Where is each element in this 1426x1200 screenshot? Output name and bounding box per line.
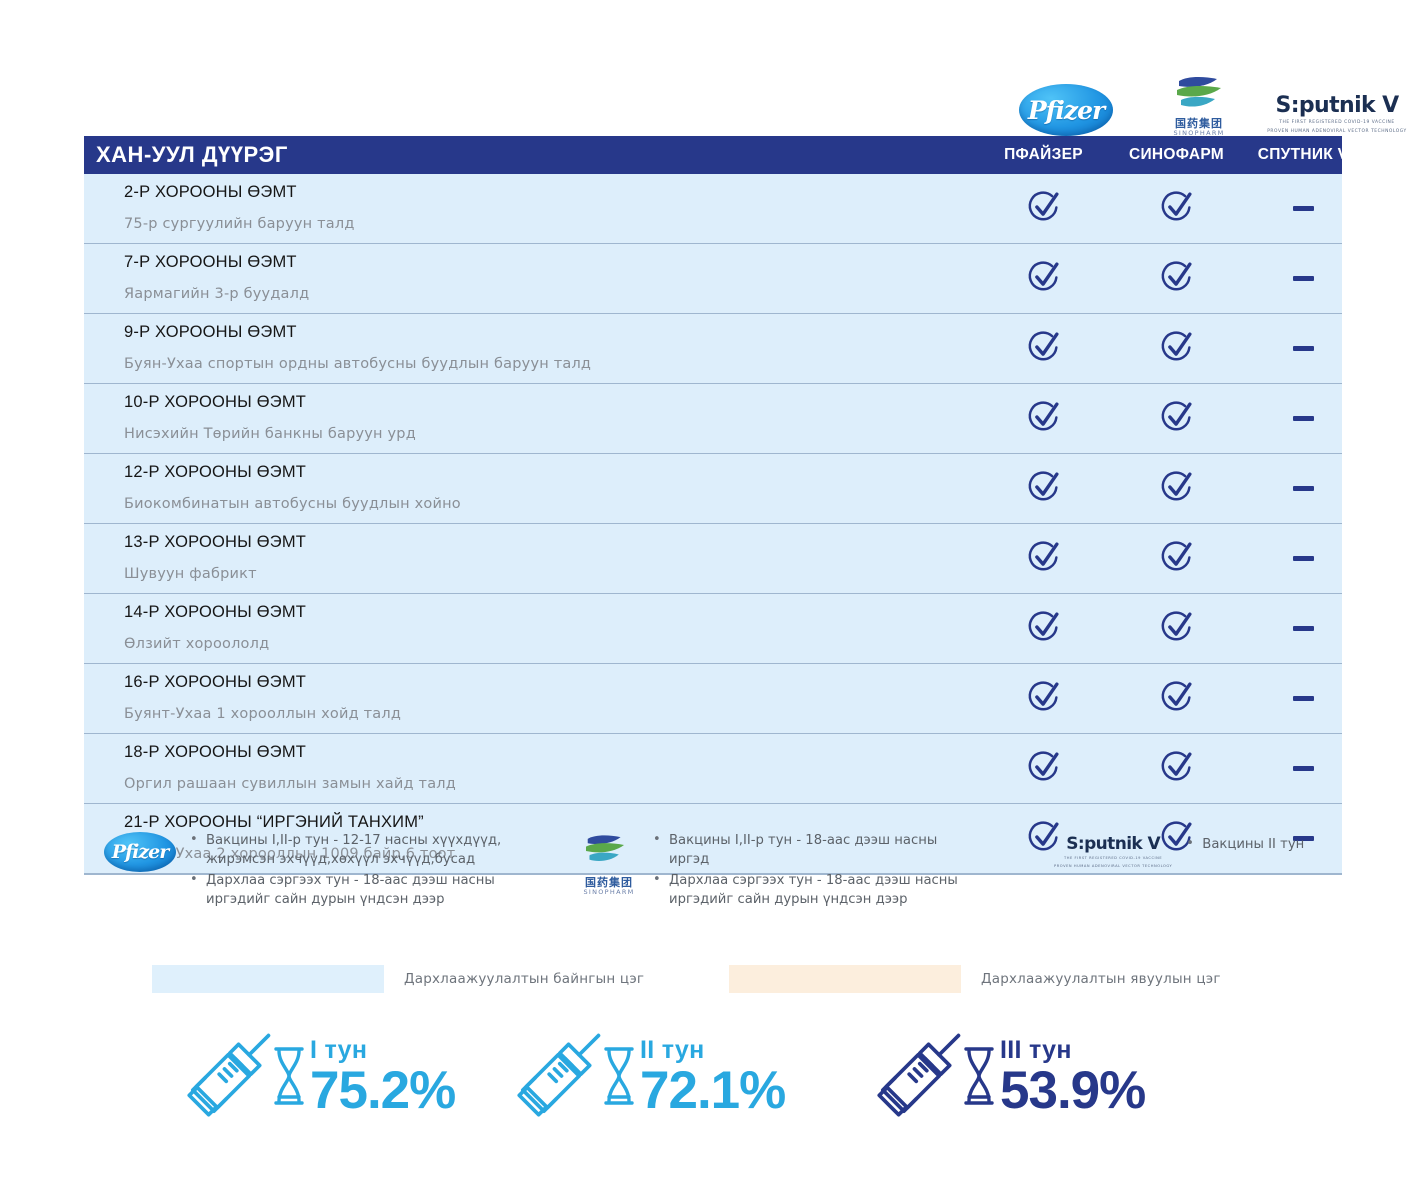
check-icon: [1158, 608, 1196, 650]
cell-sputnik: [1243, 594, 1363, 663]
note-item: Дархлаа сэргээх тун - 18-аас дээш насны …: [653, 872, 969, 909]
table-row: 9-Р ХОРООНЫ ӨЭМТБуян-Ухаа спортын ордны …: [84, 314, 1342, 384]
syringe-icon: [184, 1032, 272, 1124]
sinopharm-wave-icon: [579, 832, 639, 876]
legend-item: Дархлаажуулалтын байнгын цэг: [152, 965, 644, 993]
pfizer-wordmark: Pfizer: [112, 841, 169, 863]
check-icon: [1025, 398, 1063, 440]
table-row: 16-Р ХОРООНЫ ӨЭМТБуянт-Ухаа 1 хорооллын …: [84, 664, 1342, 734]
check-icon: [1025, 258, 1063, 300]
column-header-sputnik: СПУТНИК V: [1243, 146, 1363, 164]
pfizer-wordmark: Pfizer: [1028, 96, 1104, 125]
site-names: 7-Р ХОРООНЫ ӨЭМТЯармагийн 3-р буудалд: [84, 244, 977, 313]
site-address: Буян-Ухаа спортын ордны автобусны буудлы…: [124, 354, 977, 375]
note-item: Вакцины II тун: [1186, 836, 1304, 855]
dose-label: I тун: [310, 1038, 455, 1063]
dose-percent: 75.2%: [310, 1064, 455, 1118]
cell-sputnik: [1243, 314, 1363, 383]
hourglass-icon: [962, 1045, 996, 1111]
note-item: Вакцины I,II-р тун - 18-аас дээш насны и…: [653, 832, 969, 869]
check-icon: [1158, 468, 1196, 510]
sputnik-logo: S:putnik V THE FIRST REGISTERED COVID-19…: [1242, 95, 1426, 136]
site-address: Өлзийт хороололд: [124, 634, 977, 655]
check-icon: [1025, 608, 1063, 650]
check-icon: [1158, 328, 1196, 370]
note-item: Вакцины I,II-р тун - 12-17 насны хүүхдүү…: [190, 832, 506, 869]
sputnik-tagline-1: THE FIRST REGISTERED COVID-19 VACCINE: [1064, 856, 1162, 861]
check-icon: [1025, 468, 1063, 510]
sputnik-tagline-2: PROVEN HUMAN ADENOVIRAL VECTOR TECHNOLOG…: [1267, 129, 1407, 136]
site-address: Шувуун фабрикт: [124, 564, 977, 585]
pfizer-oval-icon: Pfizer: [104, 832, 176, 872]
cell-pfizer: [977, 594, 1110, 663]
cell-sinopharm: [1110, 314, 1243, 383]
cell-sputnik: [1243, 454, 1363, 523]
vaccination-sites-table: ХАН-УУЛ ДҮҮРЭГ ПФАЙЗЕР СИНОФАРМ СПУТНИК …: [84, 136, 1342, 875]
site-address: Яармагийн 3-р буудалд: [124, 284, 977, 305]
table-row: 14-Р ХОРООНЫ ӨЭМТӨлзийт хороололд: [84, 594, 1342, 664]
site-name: 18-Р ХОРООНЫ ӨЭМТ: [124, 741, 977, 765]
cell-pfizer: [977, 734, 1110, 803]
table-header-row: ХАН-УУЛ ДҮҮРЭГ ПФАЙЗЕР СИНОФАРМ СПУТНИК …: [84, 136, 1342, 174]
dose-icons: [514, 1032, 636, 1124]
syringe-icon: [874, 1032, 962, 1124]
table-row: 13-Р ХОРООНЫ ӨЭМТШувуун фабрикт: [84, 524, 1342, 594]
site-address: Оргил рашаан сувиллын замын хайд талд: [124, 774, 977, 795]
sputnik-tagline-2: PROVEN HUMAN ADENOVIRAL VECTOR TECHNOLOG…: [1054, 864, 1172, 869]
site-address: Нисэхийн Төрийн банкны баруун урд: [124, 424, 977, 445]
cell-pfizer: [977, 524, 1110, 593]
note-sinopharm: 国药集团 SINOPHARM Вакцины I,II-р тун - 18-а…: [579, 832, 969, 913]
site-name: 2-Р ХОРООНЫ ӨЭМТ: [124, 181, 977, 205]
column-header-sinopharm: СИНОФАРМ: [1110, 146, 1243, 164]
site-names: 9-Р ХОРООНЫ ӨЭМТБуян-Ухаа спортын ордны …: [84, 314, 977, 383]
site-name: 7-Р ХОРООНЫ ӨЭМТ: [124, 251, 977, 275]
check-icon: [1025, 678, 1063, 720]
sinopharm-chinese-name: 国药集团: [585, 877, 633, 888]
dose-stat: II тун72.1%: [514, 1032, 785, 1124]
dash-icon: [1293, 766, 1314, 771]
dose-text: I тун75.2%: [310, 1038, 455, 1118]
note-sputnik: S:putnik V THE FIRST REGISTERED COVID-19…: [1054, 836, 1304, 870]
cell-sputnik: [1243, 384, 1363, 453]
note-pfizer-logo: Pfizer: [104, 832, 176, 872]
dose-icons: [184, 1032, 306, 1124]
check-icon: [1025, 328, 1063, 370]
cell-sinopharm: [1110, 454, 1243, 523]
dose-text: II тун72.1%: [640, 1038, 785, 1118]
note-sinopharm-logo: 国药集团 SINOPHARM: [579, 832, 639, 896]
dose-label: III тун: [1000, 1038, 1145, 1063]
dash-icon: [1293, 626, 1314, 631]
pfizer-oval-icon: Pfizer: [1019, 84, 1113, 136]
sinopharm-chinese-name: 国药集团: [1175, 118, 1223, 129]
dash-icon: [1293, 276, 1314, 281]
brand-logos-row: Pfizer 国药集团 SINOPHARM S:putnik V THE FIR…: [84, 50, 1342, 136]
dash-icon: [1293, 416, 1314, 421]
note-sinopharm-list: Вакцины I,II-р тун - 18-аас дээш насны и…: [639, 832, 969, 913]
legend-item: Дархлаажуулалтын явуулын цэг: [729, 965, 1221, 993]
site-name: 14-Р ХОРООНЫ ӨЭМТ: [124, 601, 977, 625]
site-names: 18-Р ХОРООНЫ ӨЭМТОргил рашаан сувиллын з…: [84, 734, 977, 803]
sputnik-tagline-1: THE FIRST REGISTERED COVID-19 VACCINE: [1279, 120, 1394, 127]
dose-label: II тун: [640, 1038, 785, 1063]
cell-pfizer: [977, 454, 1110, 523]
dash-icon: [1293, 556, 1314, 561]
note-sputnik-list: Вакцины II тун: [1172, 836, 1304, 858]
sinopharm-wave-icon: [1169, 73, 1229, 117]
sinopharm-english-name: SINOPHARM: [583, 889, 634, 896]
site-name: 10-Р ХОРООНЫ ӨЭМТ: [124, 391, 977, 415]
dash-icon: [1293, 486, 1314, 491]
cell-sputnik: [1243, 174, 1363, 243]
cell-pfizer: [977, 244, 1110, 313]
cell-sputnik: [1243, 244, 1363, 313]
cell-sinopharm: [1110, 524, 1243, 593]
dose-statistics: I тун75.2%II тун72.1%III тун53.9%: [84, 1032, 1374, 1162]
check-icon: [1158, 748, 1196, 790]
site-address: Буянт-Ухаа 1 хорооллын хойд талд: [124, 704, 977, 725]
cell-pfizer: [977, 314, 1110, 383]
note-sputnik-logo: S:putnik V THE FIRST REGISTERED COVID-19…: [1054, 836, 1172, 870]
dash-icon: [1293, 696, 1314, 701]
table-row: 10-Р ХОРООНЫ ӨЭМТНисэхийн Төрийн банкны …: [84, 384, 1342, 454]
check-icon: [1025, 538, 1063, 580]
cell-pfizer: [977, 384, 1110, 453]
note-pfizer: Pfizer Вакцины I,II-р тун - 12-17 насны …: [104, 832, 506, 913]
dose-percent: 53.9%: [1000, 1064, 1145, 1118]
check-icon: [1025, 748, 1063, 790]
legend-swatch: [152, 965, 384, 993]
check-icon: [1158, 678, 1196, 720]
column-header-pfizer: ПФАЙЗЕР: [977, 146, 1110, 164]
site-names: 14-Р ХОРООНЫ ӨЭМТӨлзийт хороололд: [84, 594, 977, 663]
legend-label: Дархлаажуулалтын байнгын цэг: [404, 971, 644, 987]
dose-icons: [874, 1032, 996, 1124]
table-row: 18-Р ХОРООНЫ ӨЭМТОргил рашаан сувиллын з…: [84, 734, 1342, 804]
sputnik-wordmark: S:putnik V: [1066, 836, 1160, 853]
dose-stat: I тун75.2%: [184, 1032, 455, 1124]
site-names: 16-Р ХОРООНЫ ӨЭМТБуянт-Ухаа 1 хорооллын …: [84, 664, 977, 733]
table-row: 2-Р ХОРООНЫ ӨЭМТ75-р сургуулийн баруун т…: [84, 174, 1342, 244]
site-name: 12-Р ХОРООНЫ ӨЭМТ: [124, 461, 977, 485]
dose-percent: 72.1%: [640, 1064, 785, 1118]
sputnik-wordmark: S:putnik V: [1275, 95, 1398, 117]
check-icon: [1158, 258, 1196, 300]
table-row: 12-Р ХОРООНЫ ӨЭМТБиокомбинатын автобусны…: [84, 454, 1342, 524]
cell-sinopharm: [1110, 734, 1243, 803]
legend-label: Дархлаажуулалтын явуулын цэг: [981, 971, 1221, 987]
note-pfizer-list: Вакцины I,II-р тун - 12-17 насны хүүхдүү…: [176, 832, 506, 913]
site-name: 16-Р ХОРООНЫ ӨЭМТ: [124, 671, 977, 695]
table-row: 7-Р ХОРООНЫ ӨЭМТЯармагийн 3-р буудалд: [84, 244, 1342, 314]
site-name: 13-Р ХОРООНЫ ӨЭМТ: [124, 531, 977, 555]
cell-pfizer: [977, 174, 1110, 243]
dash-icon: [1293, 346, 1314, 351]
cell-sputnik: [1243, 524, 1363, 593]
legend-swatch: [729, 965, 961, 993]
site-names: 13-Р ХОРООНЫ ӨЭМТШувуун фабрикт: [84, 524, 977, 593]
cell-pfizer: [977, 664, 1110, 733]
district-title: ХАН-УУЛ ДҮҮРЭГ: [84, 142, 977, 168]
cell-sinopharm: [1110, 384, 1243, 453]
cell-sputnik: [1243, 664, 1363, 733]
dose-stat: III тун53.9%: [874, 1032, 1145, 1124]
check-icon: [1158, 398, 1196, 440]
table-body: 2-Р ХОРООНЫ ӨЭМТ75-р сургуулийн баруун т…: [84, 174, 1342, 875]
site-names: 12-Р ХОРООНЫ ӨЭМТБиокомбинатын автобусны…: [84, 454, 977, 523]
site-names: 2-Р ХОРООНЫ ӨЭМТ75-р сургуулийн баруун т…: [84, 174, 977, 243]
dash-icon: [1293, 206, 1314, 211]
color-legend: Дархлаажуулалтын байнгын цэгДархлаажуула…: [84, 965, 1374, 1005]
check-icon: [1025, 188, 1063, 230]
hourglass-icon: [602, 1045, 636, 1111]
site-address: 75-р сургуулийн баруун талд: [124, 214, 977, 235]
site-address: Биокомбинатын автобусны буудлын хойно: [124, 494, 977, 515]
check-icon: [1158, 538, 1196, 580]
dose-text: III тун53.9%: [1000, 1038, 1145, 1118]
syringe-icon: [514, 1032, 602, 1124]
check-icon: [1158, 188, 1196, 230]
cell-sputnik: [1243, 734, 1363, 803]
cell-sinopharm: [1110, 594, 1243, 663]
cell-sinopharm: [1110, 244, 1243, 313]
vaccine-notes: Pfizer Вакцины I,II-р тун - 12-17 насны …: [84, 822, 1374, 932]
cell-sinopharm: [1110, 664, 1243, 733]
hourglass-icon: [272, 1045, 306, 1111]
site-names: 10-Р ХОРООНЫ ӨЭМТНисэхийн Төрийн банкны …: [84, 384, 977, 453]
note-item: Дархлаа сэргээх тун - 18-аас дээш насны …: [190, 872, 506, 909]
cell-sinopharm: [1110, 174, 1243, 243]
site-name: 9-Р ХОРООНЫ ӨЭМТ: [124, 321, 977, 345]
